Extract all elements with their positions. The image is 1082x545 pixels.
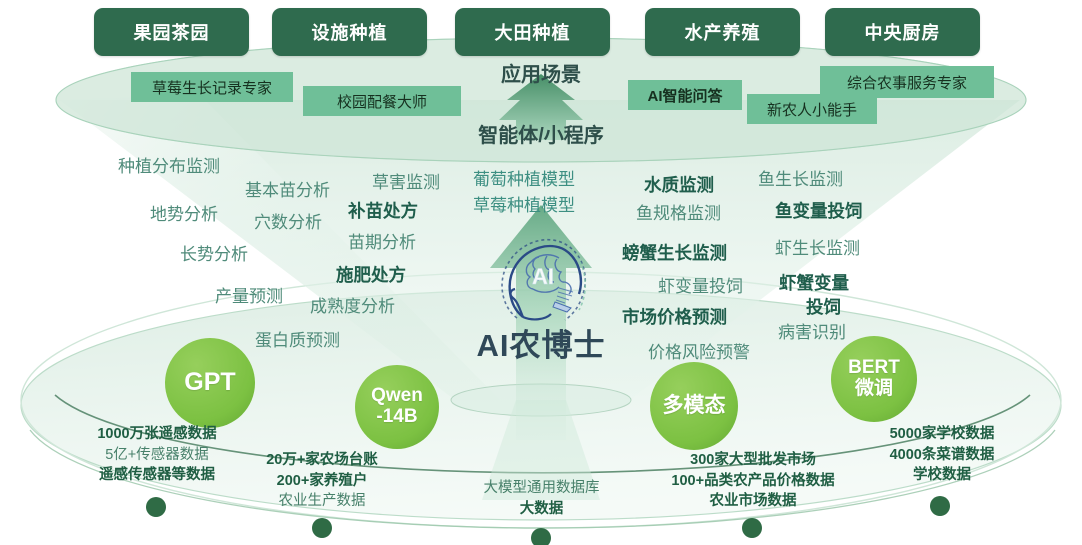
data-source-line: 大模型通用数据库: [444, 478, 639, 499]
architecture-diagram: 果园茶园 设施种植 大田种植 水产养殖 中央厨房 草莓生长记录专家 校园配餐大师…: [0, 0, 1082, 545]
data-source-2: 大模型通用数据库 大数据: [444, 478, 639, 519]
data-source-line: 农业生产数据: [222, 491, 422, 512]
data-source-line: 300家大型批发市场: [623, 450, 883, 471]
data-source-3: 300家大型批发市场 100+品类农产品价格数据 农业市场数据: [623, 450, 883, 512]
data-source-line: 大数据: [444, 499, 639, 520]
data-dot-0: [146, 497, 166, 517]
data-source-1: 20万+家农场台账 200+家养殖户 农业生产数据: [222, 450, 422, 512]
data-dot-4: [930, 496, 950, 516]
data-source-line: 学校数据: [847, 465, 1037, 486]
data-source-line: 4000条菜谱数据: [847, 445, 1037, 466]
data-source-line: 5000家学校数据: [847, 424, 1037, 445]
data-dot-2: [531, 528, 551, 545]
data-source-4: 5000家学校数据 4000条菜谱数据 学校数据: [847, 424, 1037, 486]
data-source-line: 农业市场数据: [623, 491, 883, 512]
data-source-line: 20万+家农场台账: [222, 450, 422, 471]
data-source-line: 1000万张遥感数据: [52, 424, 262, 445]
data-source-line: 100+品类农产品价格数据: [623, 471, 883, 492]
data-source-line: 200+家养殖户: [222, 471, 422, 492]
data-dot-3: [742, 518, 762, 538]
data-dot-1: [312, 518, 332, 538]
